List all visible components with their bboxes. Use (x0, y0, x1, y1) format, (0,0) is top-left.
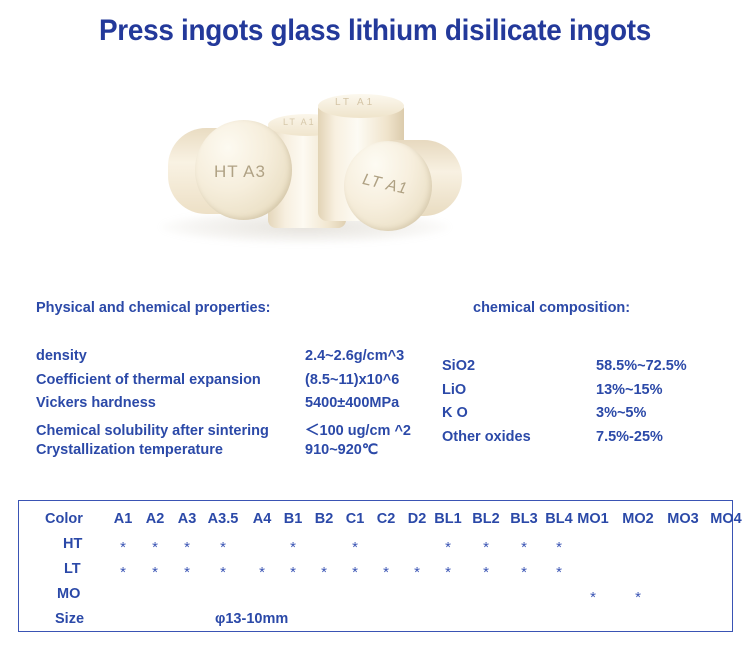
table-col-header-c2: C2 (377, 511, 396, 527)
table-col-header-bl3: BL3 (510, 511, 537, 527)
table-row-size: Size φ13-10mm (19, 611, 732, 636)
availability-mark-lt-c2: * (383, 565, 389, 580)
table-row-label-ht: HT (63, 536, 82, 552)
table-col-header-bl2: BL2 (472, 511, 499, 527)
table-corner-label: Color (45, 511, 83, 527)
chemical-composition-heading: chemical composition: (473, 300, 630, 316)
spec-label: Other oxides (442, 429, 596, 445)
spec-value: 3%~5% (596, 405, 646, 421)
table-row-mo: MO ** (19, 586, 732, 611)
availability-mark-lt-b1: * (290, 565, 296, 580)
availability-mark-lt-d2: * (414, 565, 420, 580)
availability-mark-ht-bl3: * (521, 540, 527, 555)
availability-mark-lt-a3: * (184, 565, 190, 580)
spec-row: density 2.4~2.6g/cm^3 (36, 348, 436, 372)
availability-mark-ht-bl4: * (556, 540, 562, 555)
availability-mark-lt-bl1: * (445, 565, 451, 580)
spec-label: K O (442, 405, 596, 421)
availability-mark-ht-bl2: * (483, 540, 489, 555)
table-col-header-mo2: MO2 (622, 511, 653, 527)
availability-mark-lt-bl4: * (556, 565, 562, 580)
table-col-header-a4: A4 (253, 511, 272, 527)
table-col-header-a3-5: A3.5 (208, 511, 239, 527)
availability-mark-lt-bl3: * (521, 565, 527, 580)
ingot-ht-a3: HT A3 (168, 120, 290, 224)
spec-row: Vickers hardness 5400±400MPa (36, 395, 436, 419)
ingot-lt-a1: LT A1 (344, 136, 464, 236)
chemical-composition-list: SiO2 58.5%~72.5% LiO 13%~15% K O 3%~5% O… (442, 358, 742, 452)
table-col-header-bl4: BL4 (545, 511, 572, 527)
table-col-header-a3: A3 (178, 511, 197, 527)
spec-value: ＜100 ug/cm ^2 (305, 419, 411, 440)
table-col-header-mo1: MO1 (577, 511, 608, 527)
table-row-label-lt: LT (64, 561, 81, 577)
availability-mark-lt-a3-5: * (220, 565, 226, 580)
table-col-header-b2: B2 (315, 511, 334, 527)
table-col-header-a1: A1 (114, 511, 133, 527)
availability-mark-lt-b2: * (321, 565, 327, 580)
spec-value: 2.4~2.6g/cm^3 (305, 348, 404, 364)
availability-mark-ht-bl1: * (445, 540, 451, 555)
spec-row: Coefficient of thermal expansion (8.5~11… (36, 372, 436, 396)
table-row-lt: LT ************** (19, 561, 732, 586)
availability-mark-ht-a1: * (120, 540, 126, 555)
availability-mark-lt-a4: * (259, 565, 265, 580)
table-row-label-mo: MO (57, 586, 80, 602)
color-availability-table: Color A1A2A3A3.5A4B1B2C1C2D2BL1BL2BL3BL4… (18, 500, 733, 632)
table-col-header-d2: D2 (408, 511, 427, 527)
table-col-header-a2: A2 (146, 511, 165, 527)
spec-value: 13%~15% (596, 382, 663, 398)
availability-mark-mo-mo2: * (635, 590, 641, 605)
spec-row: Chemical solubility after sintering ＜100… (36, 419, 436, 443)
size-value: φ13-10mm (215, 611, 288, 627)
table-row-ht: HT ********** (19, 536, 732, 561)
availability-mark-ht-a2: * (152, 540, 158, 555)
table-col-header-c1: C1 (346, 511, 365, 527)
spec-label: Coefficient of thermal expansion (36, 372, 305, 388)
spec-value: 58.5%~72.5% (596, 358, 687, 374)
ingot-label-upright-right: LT A1 (335, 97, 375, 108)
table-col-header-mo3: MO3 (667, 511, 698, 527)
spec-label: Vickers hardness (36, 395, 305, 411)
spec-label: Crystallization temperature (36, 442, 305, 458)
availability-mark-lt-a2: * (152, 565, 158, 580)
spec-row: SiO2 58.5%~72.5% (442, 358, 742, 382)
spec-value: 910~920℃ (305, 442, 378, 458)
spec-row: LiO 13%~15% (442, 382, 742, 406)
product-photo: LT A1 LT A1 HT A3 LT A1 (150, 92, 460, 252)
availability-mark-ht-a3: * (184, 540, 190, 555)
spec-value: 5400±400MPa (305, 395, 399, 411)
availability-mark-mo-mo1: * (590, 590, 596, 605)
spec-label: Chemical solubility after sintering (36, 423, 305, 439)
spec-label: LiO (442, 382, 596, 398)
availability-mark-ht-c1: * (352, 540, 358, 555)
table-col-header-b1: B1 (284, 511, 303, 527)
availability-mark-lt-bl2: * (483, 565, 489, 580)
table-header-row: Color A1A2A3A3.5A4B1B2C1C2D2BL1BL2BL3BL4… (19, 511, 732, 536)
spec-label: SiO2 (442, 358, 596, 374)
availability-mark-ht-b1: * (290, 540, 296, 555)
table-row-label-size: Size (55, 611, 84, 627)
availability-mark-lt-c1: * (352, 565, 358, 580)
spec-label: density (36, 348, 305, 364)
spec-row: Other oxides 7.5%-25% (442, 429, 742, 453)
physical-properties-list: density 2.4~2.6g/cm^3 Coefficient of the… (36, 348, 436, 466)
spec-value: (8.5~11)x10^6 (305, 372, 399, 388)
spec-value: 7.5%-25% (596, 429, 663, 445)
availability-mark-ht-a3-5: * (220, 540, 226, 555)
table-col-header-mo4: MO4 (710, 511, 741, 527)
physical-properties-heading: Physical and chemical properties: (36, 300, 271, 316)
ingot-label-ht-a3: HT A3 (214, 162, 266, 182)
page-title: Press ingots glass lithium disilicate in… (26, 14, 724, 48)
spec-row: Crystallization temperature 910~920℃ (36, 442, 436, 466)
spec-row: K O 3%~5% (442, 405, 742, 429)
availability-mark-lt-a1: * (120, 565, 126, 580)
table-col-header-bl1: BL1 (434, 511, 461, 527)
